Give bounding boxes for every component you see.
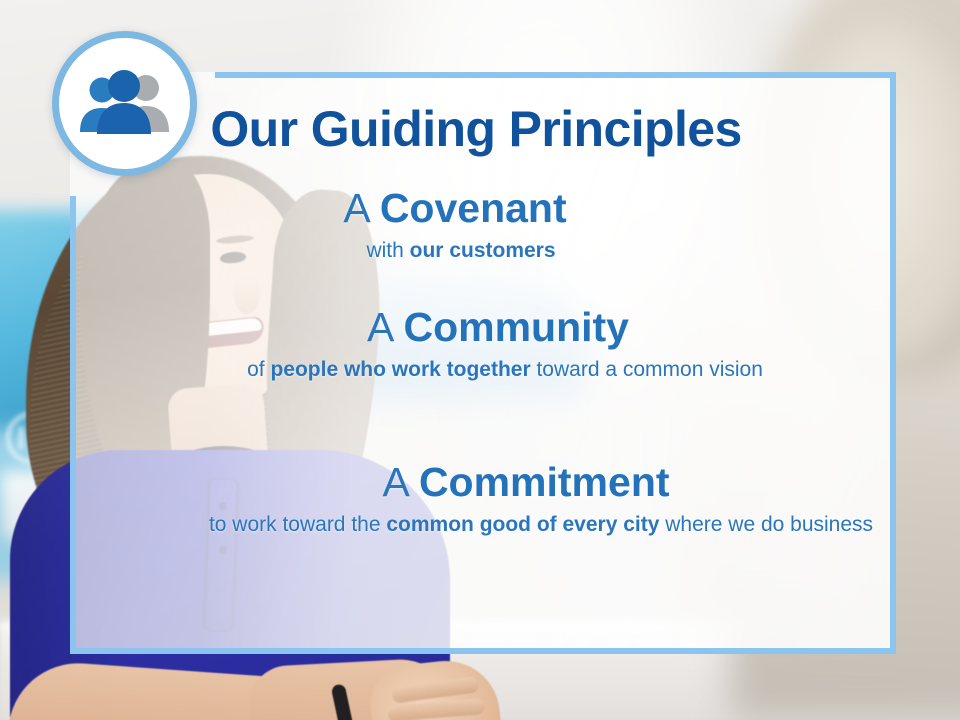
subtext-part-bold: our customers — [410, 239, 556, 262]
principle-subtext: of people who work together toward a com… — [70, 356, 896, 384]
subtext-part: where we do business — [659, 513, 873, 536]
subtext-part-bold: common good of every city — [386, 513, 659, 536]
principle-subtext: to work toward the common good of every … — [70, 511, 896, 539]
principle-block-community: A Community of people who work together … — [70, 306, 896, 384]
subtext-part: to work toward the — [209, 513, 386, 536]
principle-heading: A Commitment — [70, 461, 896, 504]
principle-keyword: Commitment — [419, 459, 670, 505]
principle-keyword: Community — [403, 304, 629, 350]
poster-canvas: FLOW AUTOMOTIVE FLOW — [0, 0, 960, 720]
subtext-part-bold: people who work together — [270, 358, 530, 381]
subtext-part: of — [247, 358, 270, 381]
subtext-part: toward a common vision — [531, 358, 763, 381]
principle-block-covenant: A Covenant with our customers — [70, 187, 896, 265]
page-title: Our Guiding Principles — [70, 100, 882, 158]
principle-block-commitment: A Commitment to work toward the common g… — [70, 461, 896, 539]
principle-lead: A — [382, 459, 418, 505]
principle-lead: A — [343, 185, 379, 231]
principle-subtext: with our customers — [70, 237, 896, 265]
principle-heading: A Community — [70, 306, 896, 349]
principle-keyword: Covenant — [380, 185, 567, 231]
principle-lead: A — [367, 304, 403, 350]
subtext-part: with — [366, 239, 409, 262]
principles-content: Our Guiding Principles A Covenant with o… — [70, 72, 896, 650]
principle-heading: A Covenant — [70, 187, 896, 230]
